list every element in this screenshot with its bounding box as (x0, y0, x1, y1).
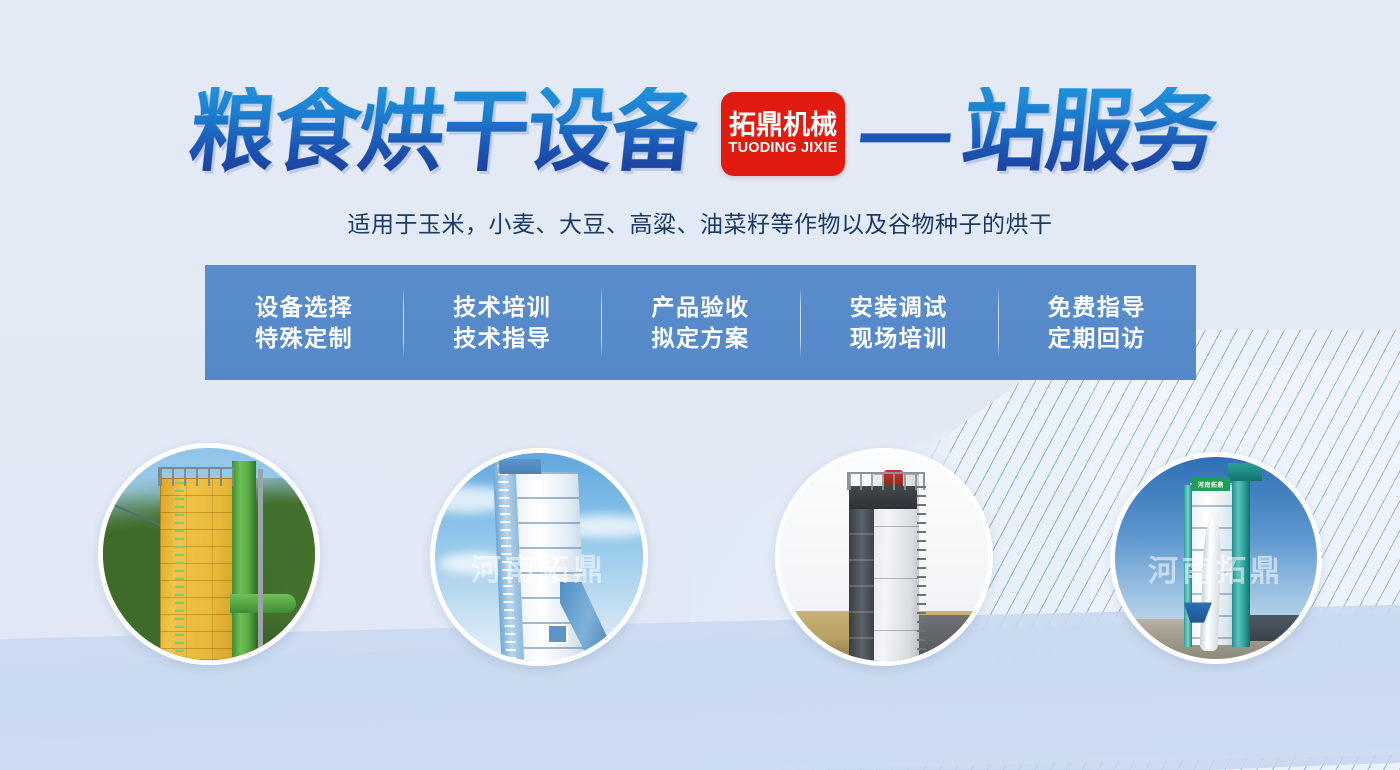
feature-line-1: 产品验收 (652, 295, 750, 319)
duct (230, 594, 296, 613)
feature-line-1: 安装调试 (850, 295, 948, 319)
feature-line-1: 技术培训 (453, 295, 551, 319)
elevator-leg (1232, 473, 1250, 647)
feature-line-1: 免费指导 (1048, 295, 1146, 319)
photo-teal-grain-dryer-tower[interactable]: 河南拓鼎 河南拓鼎 (1110, 452, 1322, 664)
photo-scene: 河南拓鼎 (435, 453, 643, 661)
feature-item-equipment-selection[interactable]: 设备选择 特殊定制 (205, 265, 403, 380)
feature-item-installation-commissioning[interactable]: 安装调试 现场培训 (800, 265, 998, 380)
feature-line-2: 技术指导 (453, 326, 551, 350)
ladder (917, 486, 925, 661)
photo-grey-grain-dryer-tower[interactable] (775, 448, 993, 666)
utility-pole (258, 469, 263, 660)
feature-line-2: 拟定方案 (652, 326, 750, 350)
top-railing (847, 472, 926, 491)
headline-right-text: 站服务 (958, 87, 1221, 177)
ladder (175, 482, 183, 656)
access-panel (547, 624, 568, 645)
feature-line-2: 定期回访 (1048, 326, 1146, 350)
photo-scene (780, 453, 988, 661)
elevator-leg (232, 461, 255, 660)
feature-item-free-guidance[interactable]: 免费指导 定期回访 (998, 265, 1196, 380)
feature-line-2: 特殊定制 (255, 326, 353, 350)
headline: 粮食烘干设备 拓鼎机械 TUODING JIXIE — 站服务 (0, 72, 1400, 192)
tower-sign-text: 河南拓鼎 (1198, 480, 1224, 489)
logo-chinese-name: 拓鼎机械 (729, 112, 837, 139)
feature-line-1: 设备选择 (255, 295, 353, 319)
tower-head (499, 459, 541, 474)
feature-bar: 设备选择 特殊定制 技术培训 技术指导 产品验收 拟定方案 安装调试 现场培训 … (205, 265, 1196, 380)
subtitle: 适用于玉米，小麦、大豆、高粱、油菜籽等作物以及谷物种子的烘干 (0, 205, 1400, 239)
logo-pinyin-name: TUODING JIXIE (729, 141, 838, 156)
photo-white-blue-grain-dryer-tower[interactable]: 河南拓鼎 (430, 448, 648, 666)
tower-sign: 河南拓鼎 (1192, 477, 1230, 491)
feature-item-technical-training[interactable]: 技术培训 技术指导 (403, 265, 601, 380)
photo-scene: 河南拓鼎 河南拓鼎 (1115, 457, 1317, 659)
headline-dash: — (856, 87, 955, 177)
top-railing (158, 467, 234, 486)
logo-badge: 拓鼎机械 TUODING JIXIE (721, 92, 845, 176)
feature-item-product-acceptance[interactable]: 产品验收 拟定方案 (601, 265, 799, 380)
feature-line-2: 现场培训 (850, 326, 948, 350)
promo-banner: 粮食烘干设备 拓鼎机械 TUODING JIXIE — 站服务 适用于玉米，小麦… (0, 0, 1400, 770)
photo-scene (103, 448, 315, 660)
photo-yellow-grain-dryer-tower[interactable] (98, 443, 320, 665)
tower-head (1228, 463, 1262, 481)
headline-left-text: 粮食烘干设备 (185, 87, 701, 177)
